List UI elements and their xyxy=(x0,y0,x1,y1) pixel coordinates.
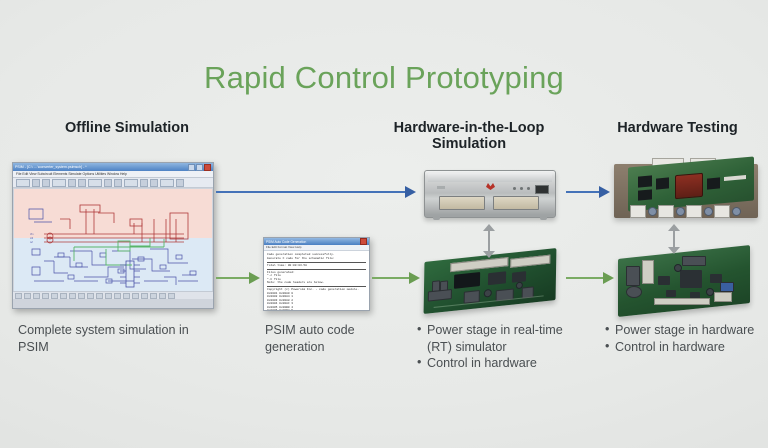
terminal-screw xyxy=(676,207,685,216)
fpga-chip xyxy=(488,271,506,285)
page-title: Rapid Control Prototyping xyxy=(0,60,768,96)
status-cell xyxy=(96,293,103,299)
arrow-offline-to-hil xyxy=(216,186,416,198)
codegen-output-text: Code generation completed successfully. … xyxy=(264,251,369,311)
psim-status-bar xyxy=(13,291,213,299)
dsp-processor-chip xyxy=(680,270,702,288)
status-cell xyxy=(105,293,112,299)
bullet-item: Control in hardware xyxy=(417,355,577,372)
chassis-foot xyxy=(433,216,440,220)
arrow-head-icon xyxy=(599,186,610,198)
processor-chip xyxy=(454,272,480,289)
toolbar-button[interactable] xyxy=(42,179,50,187)
schematic-drawing: Vinctrl ref xyxy=(14,189,212,291)
toolbar-button[interactable] xyxy=(104,179,112,187)
brand-logo-icon xyxy=(486,183,495,190)
code-generation-window[interactable]: PSIM Auto Code Generation File Edit Form… xyxy=(263,237,370,311)
close-icon[interactable] xyxy=(204,164,211,171)
maximize-icon[interactable] xyxy=(196,164,203,171)
psim-toolbar[interactable] xyxy=(13,178,213,188)
blue-connector xyxy=(720,282,734,292)
minimize-icon[interactable] xyxy=(188,164,195,171)
capacitor xyxy=(674,264,682,272)
arrow-shaft xyxy=(372,277,410,279)
arrow-head-down-icon xyxy=(668,247,680,254)
capacitor xyxy=(706,288,714,296)
svg-text:Vin: Vin xyxy=(30,233,34,236)
hil-header-line-2: Simulation xyxy=(380,136,558,152)
close-icon[interactable] xyxy=(360,238,367,245)
svg-text:ctrl: ctrl xyxy=(30,237,34,240)
toolbar-button[interactable] xyxy=(124,179,138,187)
status-cell xyxy=(78,293,85,299)
caption-hil-bullets: Power stage in real-time (RT) simulator … xyxy=(417,322,577,372)
arrow-shaft xyxy=(488,230,490,252)
status-cell xyxy=(150,293,157,299)
status-cell xyxy=(15,293,22,299)
slide-canvas: Rapid Control Prototyping Offline Simula… xyxy=(0,0,768,448)
status-led xyxy=(527,187,530,190)
bullet-item: Power stage in real-time (RT) simulator xyxy=(417,322,577,355)
caption-offline-simulation: Complete system simulation in PSIM xyxy=(18,322,218,355)
front-panel-display xyxy=(535,185,549,194)
toolbar-button[interactable] xyxy=(52,179,66,187)
toolbar-button[interactable] xyxy=(68,179,76,187)
screw-terminal xyxy=(658,205,674,218)
double-arrow-hil-link xyxy=(483,224,495,258)
arrow-offline-to-codegen xyxy=(216,272,260,284)
status-led xyxy=(513,187,516,190)
status-cell xyxy=(42,293,49,299)
chassis-label xyxy=(437,186,445,189)
caption-code-generation: PSIM auto code generation xyxy=(265,322,415,355)
chassis-body xyxy=(424,170,556,218)
column-header-offline-simulation: Offline Simulation xyxy=(18,120,236,136)
round-connector xyxy=(626,286,642,298)
power-module xyxy=(638,175,652,187)
arrow-rt-card-to-control-hardware xyxy=(566,272,614,284)
toolbar-button[interactable] xyxy=(150,179,158,187)
caption-hardware-bullets: Power stage in hardware Control in hardw… xyxy=(605,322,768,355)
header-connector xyxy=(642,260,654,284)
db9-serial-port xyxy=(682,256,706,266)
code-line: 0x0006 0x00B4 5 xyxy=(267,309,366,311)
psim-window-controls[interactable] xyxy=(188,164,211,171)
codegen-window-title: PSIM Auto Code Generation xyxy=(266,240,360,244)
toolbar-button[interactable] xyxy=(114,179,122,187)
toolbar-button[interactable] xyxy=(16,179,30,187)
io-connector-slot xyxy=(439,196,485,210)
power-module xyxy=(638,189,652,200)
code-line: Note: the code headers are below. xyxy=(267,281,366,285)
column-header-hil-simulation: Hardware-in-the-Loop Simulation xyxy=(380,120,558,152)
power-stage-hardware-image xyxy=(612,158,760,220)
transformer xyxy=(675,173,703,199)
expansion-header xyxy=(654,298,710,305)
screw-terminal xyxy=(686,205,702,218)
code-line: Generate C code for the schematic file: xyxy=(267,257,366,261)
psim-window-title: PSIM - [C:\ ... \converter_system.psimsc… xyxy=(15,165,188,169)
arrow-shaft xyxy=(216,191,406,193)
chassis-top-face xyxy=(428,173,552,182)
arrow-head-down-icon xyxy=(483,251,495,258)
screw-terminal xyxy=(714,205,730,218)
code-line: Total time: 00:00:03.58 xyxy=(267,264,366,268)
hil-header-line-1: Hardware-in-the-Loop xyxy=(380,120,558,136)
status-cell xyxy=(168,293,175,299)
psim-schematic-canvas[interactable]: Vinctrl ref xyxy=(14,189,212,291)
arrow-shaft xyxy=(673,230,675,248)
io-connector-slot xyxy=(493,196,539,210)
divider xyxy=(267,262,366,263)
header-connector xyxy=(714,292,732,302)
toolbar-button[interactable] xyxy=(140,179,148,187)
terminal-screw xyxy=(648,207,657,216)
toolbar-button[interactable] xyxy=(88,179,102,187)
status-cell xyxy=(33,293,40,299)
screw-terminal xyxy=(630,205,646,218)
psim-schematic-window[interactable]: PSIM - [C:\ ... \converter_system.psimsc… xyxy=(12,162,214,309)
logic-chip xyxy=(658,276,670,285)
arrow-head-icon xyxy=(409,272,420,284)
power-module xyxy=(707,177,720,189)
arrow-head-icon xyxy=(603,272,614,284)
svg-text:ref: ref xyxy=(30,241,33,244)
power-jack xyxy=(626,266,640,286)
psim-menu-bar[interactable]: File Edit View Subcircuit Elements Simul… xyxy=(13,171,213,178)
bullet-item: Control in hardware xyxy=(605,339,768,356)
arrow-shaft xyxy=(566,191,600,193)
arrow-shaft xyxy=(216,277,250,279)
toolbar-button[interactable] xyxy=(176,179,184,187)
double-arrow-hardware-link xyxy=(668,224,680,254)
status-cell xyxy=(114,293,121,299)
toolbar-button[interactable] xyxy=(32,179,40,187)
status-cell xyxy=(69,293,76,299)
status-cell xyxy=(159,293,166,299)
hil-simulator-chassis-image xyxy=(424,170,556,218)
terminal-screw xyxy=(732,207,741,216)
toolbar-button[interactable] xyxy=(160,179,174,187)
arrow-hil-to-hardware xyxy=(566,186,610,198)
status-cell xyxy=(51,293,58,299)
psim-title-bar: PSIM - [C:\ ... \converter_system.psimsc… xyxy=(13,163,213,171)
bullet-item: Power stage in hardware xyxy=(605,322,768,339)
chassis-foot xyxy=(540,216,547,220)
power-module xyxy=(656,177,669,189)
toolbar-button[interactable] xyxy=(78,179,86,187)
status-cell xyxy=(123,293,130,299)
status-led xyxy=(520,187,523,190)
divider xyxy=(267,286,366,287)
control-hardware-image xyxy=(618,252,750,310)
arrow-head-icon xyxy=(249,272,260,284)
status-cell xyxy=(87,293,94,299)
status-cell xyxy=(60,293,67,299)
status-cell xyxy=(141,293,148,299)
arrow-shaft xyxy=(566,277,604,279)
codegen-title-bar: PSIM Auto Code Generation xyxy=(264,238,369,245)
logic-chip xyxy=(666,290,676,297)
column-header-hardware-testing: Hardware Testing xyxy=(590,120,765,136)
status-cell xyxy=(132,293,139,299)
status-cell xyxy=(24,293,31,299)
divider xyxy=(267,269,366,270)
arrow-head-icon xyxy=(405,186,416,198)
arrow-codegen-to-rt-card xyxy=(372,272,420,284)
terminal-screw xyxy=(704,207,713,216)
